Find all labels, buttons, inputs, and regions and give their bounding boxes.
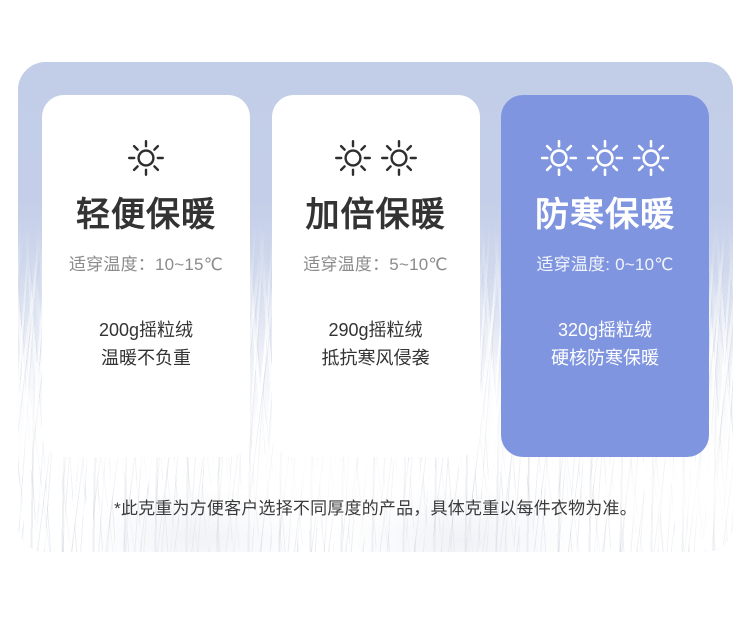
sun-icon-group — [539, 135, 671, 181]
sun-icon — [126, 138, 166, 178]
promo-graphic: 轻便保暖 适穿温度：10~15℃ 200g摇粒绒 温暖不负重 — [0, 0, 750, 619]
card-title: 加倍保暖 — [306, 197, 446, 234]
sun-icon — [631, 138, 671, 178]
card-spec-line-1: 200g摇粒绒 — [99, 317, 193, 345]
footnote-text: *此克重为方便客户选择不同厚度的产品，具体克重以每件衣物为准。 — [18, 494, 733, 519]
card-spec: 200g摇粒绒 温暖不负重 — [99, 317, 193, 373]
card-title: 轻便保暖 — [76, 197, 216, 234]
card-spec-line-2: 温暖不负重 — [99, 345, 193, 373]
warmth-card-double[interactable]: 加倍保暖 适穿温度：5~10℃ 290g摇粒绒 抵抗寒风侵袭 — [272, 95, 480, 457]
card-temperature: 适穿温度：5~10℃ — [303, 250, 447, 275]
card-title: 防寒保暖 — [535, 197, 675, 234]
sun-icon — [585, 138, 625, 178]
warmth-comparison-panel: 轻便保暖 适穿温度：10~15℃ 200g摇粒绒 温暖不负重 — [18, 62, 733, 552]
card-spec-line-1: 320g摇粒绒 — [551, 317, 659, 345]
sun-icon-group — [126, 135, 166, 181]
warmth-card-coldproof[interactable]: 防寒保暖 适穿温度: 0~10℃ 320g摇粒绒 硬核防寒保暖 — [501, 95, 709, 457]
card-temperature: 适穿温度：10~15℃ — [69, 250, 223, 275]
warmth-card-list: 轻便保暖 适穿温度：10~15℃ 200g摇粒绒 温暖不负重 — [42, 95, 709, 457]
card-spec-line-2: 抵抗寒风侵袭 — [322, 345, 430, 373]
card-spec-line-2: 硬核防寒保暖 — [551, 345, 659, 373]
card-spec: 290g摇粒绒 抵抗寒风侵袭 — [322, 317, 430, 373]
warmth-card-light[interactable]: 轻便保暖 适穿温度：10~15℃ 200g摇粒绒 温暖不负重 — [42, 95, 250, 457]
sun-icon-group — [333, 135, 419, 181]
card-temperature: 适穿温度: 0~10℃ — [536, 250, 673, 275]
sun-icon — [539, 138, 579, 178]
card-spec-line-1: 290g摇粒绒 — [322, 317, 430, 345]
sun-icon — [333, 138, 373, 178]
card-spec: 320g摇粒绒 硬核防寒保暖 — [551, 317, 659, 373]
sun-icon — [379, 138, 419, 178]
